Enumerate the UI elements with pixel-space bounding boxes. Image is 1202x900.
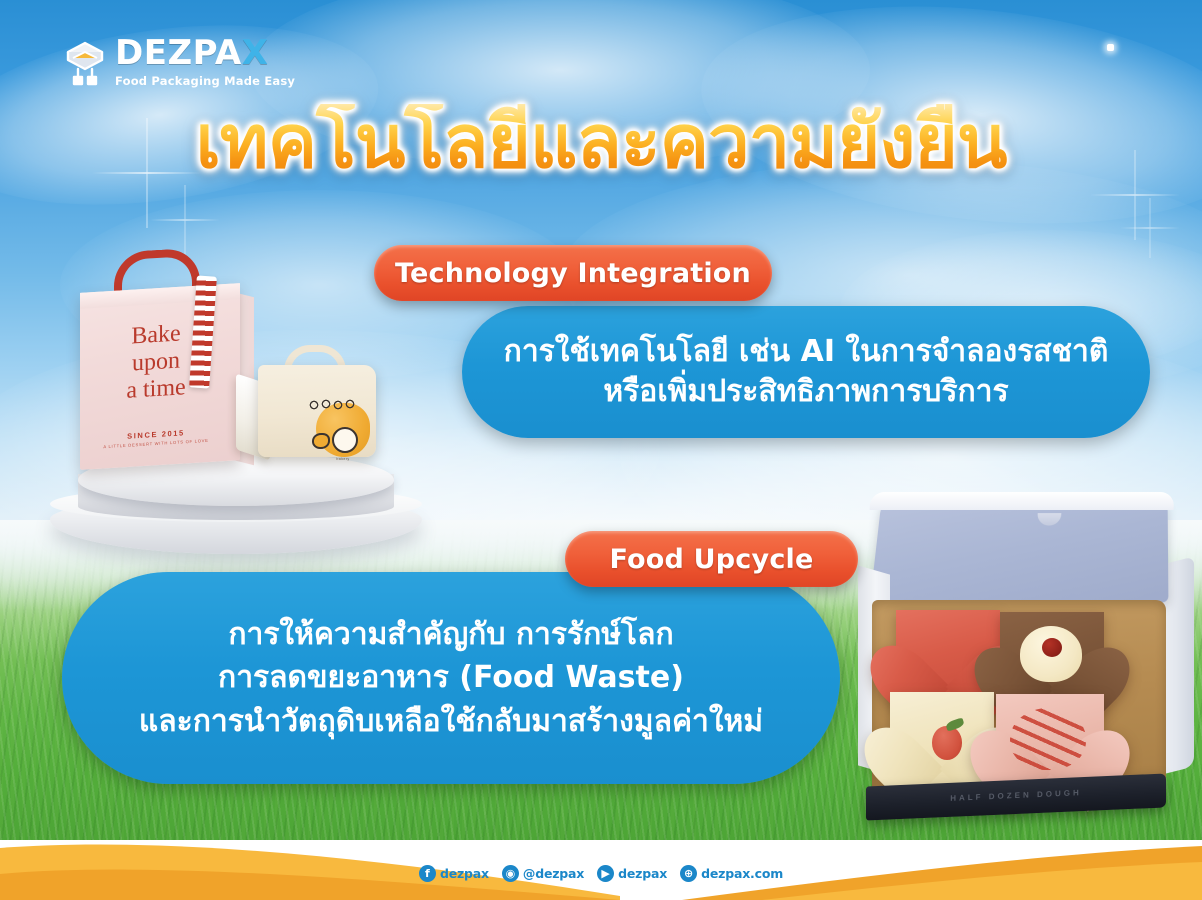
upcycle-line-3: และการนำวัตถุดิบเหลือใช้กลับมาสร้างมูลค่… bbox=[139, 700, 763, 744]
social-youtube[interactable]: ▶ dezpax bbox=[597, 865, 667, 882]
pastry-box-caption: bakery bbox=[320, 457, 366, 464]
website-icon: ⊕ bbox=[680, 865, 697, 882]
star-sparkle-icon bbox=[1107, 44, 1114, 51]
upcycle-line-2: การลดขยะอาหาร (Food Waste) bbox=[218, 656, 684, 700]
line-icon: ◉ bbox=[502, 865, 519, 882]
badge-food-upcycle[interactable]: Food Upcycle bbox=[565, 531, 858, 587]
lid-notch bbox=[1037, 513, 1061, 525]
bag-brand-text: Bake upon a time bbox=[86, 318, 226, 407]
drizzle-stripes bbox=[1010, 708, 1086, 770]
social-handle-line: @dezpax bbox=[523, 866, 584, 881]
social-website[interactable]: ⊕ dezpax.com bbox=[680, 865, 783, 882]
facebook-icon: f bbox=[419, 865, 436, 882]
upcycle-line-1: การให้ความสำคัญกับ การรักษ์โลก bbox=[228, 613, 673, 657]
character-face bbox=[332, 427, 358, 453]
sparkle-icon bbox=[1120, 198, 1180, 258]
panel-food-upcycle: การให้ความสำคัญกับ การรักษ์โลก การลดขยะอ… bbox=[62, 572, 840, 784]
donut-box-lid bbox=[870, 498, 1169, 602]
social-facebook[interactable]: f dezpax bbox=[419, 865, 489, 882]
pastry-box-front: bakery bbox=[258, 365, 376, 457]
logo-wordmark: DEZPAX Food Packaging Made Easy bbox=[115, 36, 295, 88]
panel-technology-integration: การใช้เทคโนโลยี เช่น AI ในการจำลองรสชาติ… bbox=[462, 306, 1150, 438]
dezpax-logo[interactable]: DEZPAX Food Packaging Made Easy bbox=[62, 33, 287, 91]
social-links-bar: f dezpax ◉ @dezpax ▶ dezpax ⊕ dezpax.com bbox=[0, 861, 1202, 885]
page-title: เทคโนโลยีและความยั่งยืน bbox=[0, 104, 1202, 182]
strawberry-topping bbox=[932, 726, 962, 760]
social-handle-youtube: dezpax bbox=[618, 866, 667, 881]
cartoon-pastry-box: bakery bbox=[236, 345, 376, 473]
packaging-box-icon bbox=[62, 36, 108, 88]
social-handle-website: dezpax.com bbox=[701, 866, 783, 881]
cherry-topping bbox=[1042, 638, 1062, 657]
logo-tagline: Food Packaging Made Easy bbox=[115, 74, 295, 88]
infographic-poster: DEZPAX Food Packaging Made Easy เทคโนโลย… bbox=[0, 0, 1202, 900]
logo-name: DEZPAX bbox=[115, 36, 295, 70]
tech-line-1: การใช้เทคโนโลยี เช่น AI ในการจำลองรสชาติ bbox=[504, 332, 1109, 372]
crumb-shape bbox=[312, 433, 330, 449]
donut-box-band-text: HALF DOZEN DOUGH bbox=[866, 784, 1166, 806]
pink-paper-bag: Bake upon a time SINCE 2015 A LITTLE DES… bbox=[80, 250, 240, 465]
youtube-icon: ▶ bbox=[597, 865, 614, 882]
pastry-box-doodle bbox=[308, 399, 362, 411]
social-line[interactable]: ◉ @dezpax bbox=[502, 865, 584, 882]
lid-rim bbox=[870, 492, 1175, 510]
tech-line-2: หรือเพิ่มประสิทธิภาพการบริการ bbox=[603, 372, 1008, 412]
social-handle-facebook: dezpax bbox=[440, 866, 489, 881]
heart-donut-box-photo: HALF DOZEN DOUGH bbox=[854, 496, 1194, 836]
badge-technology-integration[interactable]: Technology Integration bbox=[374, 245, 772, 301]
